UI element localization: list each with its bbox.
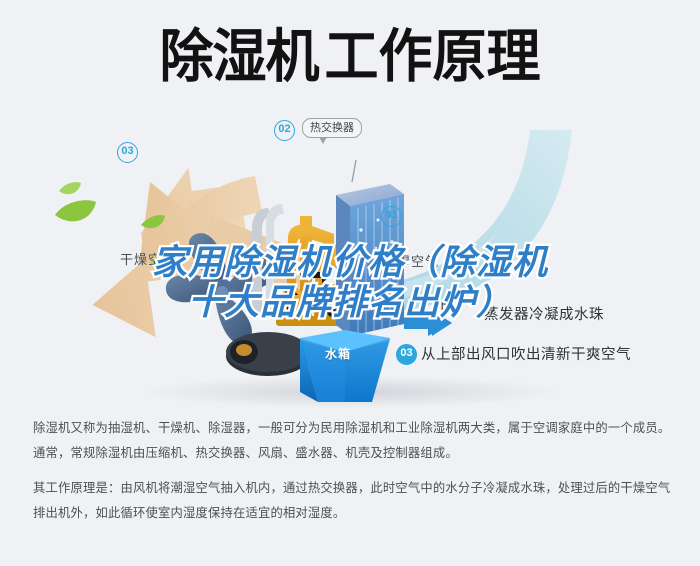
label-dry-air: 干燥空气 [120, 249, 176, 268]
paragraph-1-line-1: 除湿机又称为抽湿机、干燥机、除湿器，一般可分为民用除湿机和工业除湿机两大类，属于… [33, 418, 673, 439]
page-root: 除湿机工作原理 [0, 0, 700, 566]
paragraph-1-line-2: 通常，常规除湿机由压缩机、热交换器、风扇、盛水器、机壳及控制器组成。 [33, 443, 673, 464]
paragraph-2-line-1: 其工作原理是：由风机将潮湿空气抽入机内，通过热交换器，此时空气中的水分子冷凝成水… [33, 478, 673, 499]
badge-03: 03 [117, 142, 138, 163]
compressor-coils [252, 204, 348, 326]
label-humid-air: 潮湿空气 [383, 251, 439, 270]
leaf-icon-2 [59, 182, 81, 194]
title-part-a: 除湿机 [160, 23, 319, 90]
dehumidifier-diagram: 02 热交换器 01 03 潮湿空气 干燥空气 水箱 由 蒸发器冷凝成水珠 03… [0, 120, 700, 410]
paragraph-2-line-2: 排出机外，如此循环使室内湿度保持在适宜的相对湿度。 [33, 503, 673, 524]
callout-leader [352, 160, 356, 182]
step-text-partial: 蒸发器冷凝成水珠 [484, 303, 604, 324]
badge-02: 02 [274, 120, 295, 141]
badge-step3: 03 [396, 344, 417, 365]
body-copy: 除湿机又称为抽湿机、干燥机、除湿器，一般可分为民用除湿机和工业除湿机两大类，属于… [33, 418, 673, 528]
leaf-icon-1 [55, 200, 96, 221]
badge-01: 01 [381, 206, 402, 227]
label-water-tank: 水箱 [325, 345, 351, 362]
callout-heat-exchanger: 热交换器 [302, 118, 362, 138]
title-part-b: 工作原理 [325, 23, 541, 90]
step3-text: 从上部出风口吹出清新干爽空气 [421, 343, 631, 364]
page-title: 除湿机工作原理 [0, 18, 700, 96]
title-text: 除湿机工作原理 [160, 28, 541, 85]
diagram-svg [0, 120, 700, 410]
machine-base [226, 332, 310, 376]
step-text-partial-prefix: 由 [440, 293, 455, 314]
